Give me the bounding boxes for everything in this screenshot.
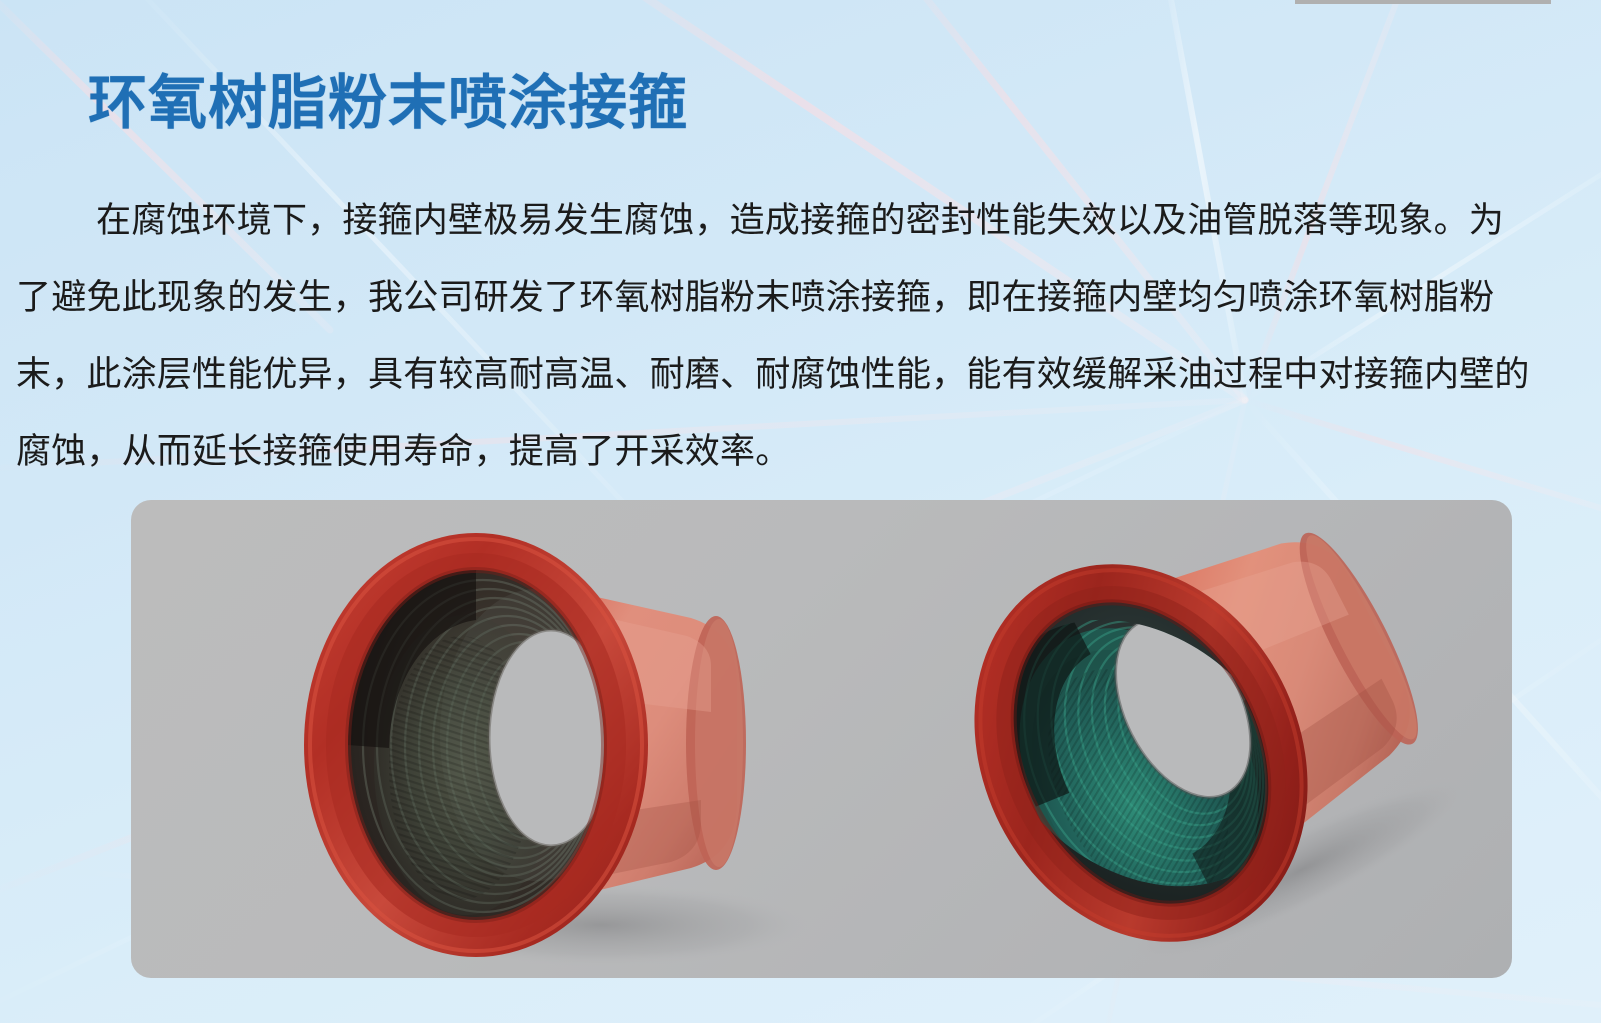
coupling-photos bbox=[131, 500, 1512, 978]
top-edge-bar bbox=[1295, 0, 1551, 4]
product-photo-panel bbox=[131, 500, 1512, 978]
slide-page: 环氧树脂粉末喷涂接箍 在腐蚀环境下，接箍内壁极易发生腐蚀，造成接箍的密封性能失效… bbox=[0, 0, 1601, 1023]
page-title: 环氧树脂粉末喷涂接箍 bbox=[88, 73, 688, 135]
coupling-right bbox=[911, 500, 1492, 978]
coupling-left bbox=[304, 533, 816, 967]
body-paragraph: 在腐蚀环境下，接箍内壁极易发生腐蚀，造成接箍的密封性能失效以及油管脱落等现象。为… bbox=[16, 182, 1588, 490]
body-line-2: 了避免此现象的发生，我公司研发了环氧树脂粉末喷涂接箍，即在接箍内壁均匀喷涂环氧树… bbox=[16, 259, 1588, 336]
body-line-4: 腐蚀，从而延长接箍使用寿命，提高了开采效率。 bbox=[16, 413, 1588, 490]
body-line-3: 末，此涂层性能优异，具有较高耐高温、耐磨、耐腐蚀性能，能有效缓解采油过程中对接箍… bbox=[16, 336, 1588, 413]
body-line-1: 在腐蚀环境下，接箍内壁极易发生腐蚀，造成接箍的密封性能失效以及油管脱落等现象。为 bbox=[16, 182, 1588, 259]
